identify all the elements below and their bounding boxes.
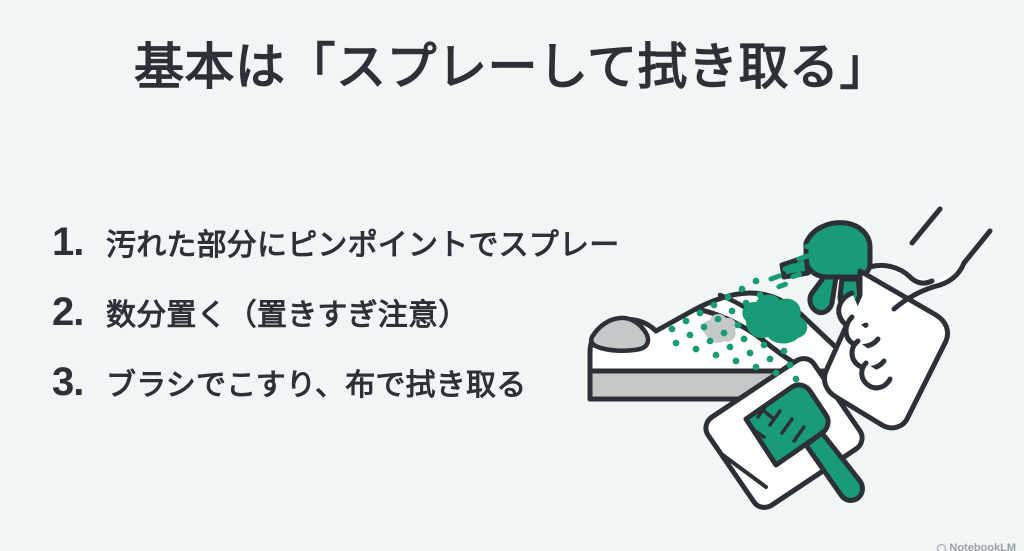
copyright-icon <box>937 544 946 551</box>
watermark: NotebookLM <box>937 542 1016 551</box>
spray-bottle-sneaker-brush-illustration <box>560 185 1024 525</box>
step-number: 1. <box>52 222 106 262</box>
watermark-label: NotebookLM <box>949 542 1016 551</box>
page-title: 基本は「スプレーして拭き取る」 <box>0 36 1024 98</box>
step-number: 2. <box>52 292 106 332</box>
step-number: 3. <box>52 362 106 402</box>
slide-canvas: 基本は「スプレーして拭き取る」 1. 汚れた部分にピンポイントでスプレー 2. … <box>0 0 1024 551</box>
